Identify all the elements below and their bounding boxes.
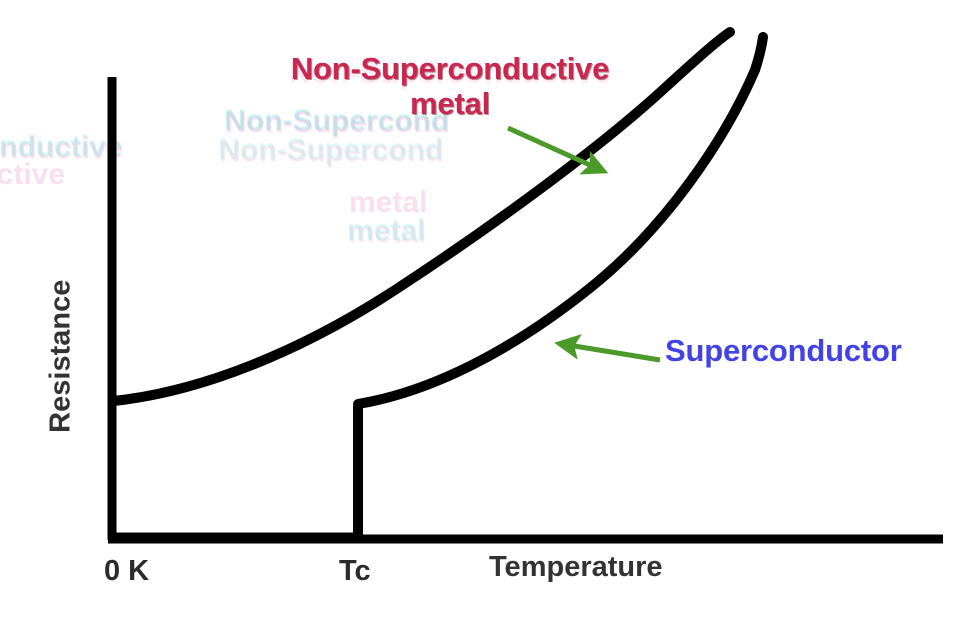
arrow-to-superconductor-curve xyxy=(562,344,660,360)
x-tick-label-0k: 0 K xyxy=(104,555,149,587)
annotation-non-superconductive-metal: Non-Superconductive metal xyxy=(255,52,645,121)
annotation-superconductor-text: Superconductor xyxy=(665,333,902,368)
annotation-non-superconductive-line1: Non-Superconductive xyxy=(291,51,609,86)
annotation-non-superconductive-line2: metal xyxy=(410,86,490,121)
resistance-vs-temperature-figure: Non-Superconductive Non-Supercond Non-Su… xyxy=(0,0,967,635)
annotation-superconductor: Superconductor xyxy=(665,334,902,369)
y-axis-title: Resistance xyxy=(44,264,76,449)
x-axis-title: Temperature xyxy=(489,551,663,583)
x-tick-label-tc: Tc xyxy=(339,555,371,587)
